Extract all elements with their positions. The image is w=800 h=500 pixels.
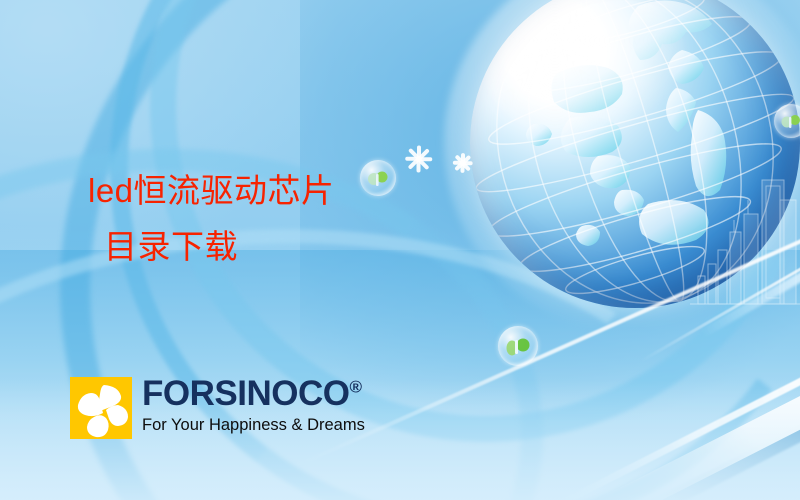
city-skyline-icon (690, 170, 800, 320)
registered-trademark-icon: ® (349, 377, 361, 396)
logo-tagline: For Your Happiness & Dreams (142, 415, 365, 435)
bubble-globe-icon (360, 160, 396, 196)
pinwheel-petals-icon (70, 377, 132, 439)
asterisk-flower-icon (452, 152, 474, 174)
page-title: led恒流驱动芯片 目录下载 (88, 163, 335, 275)
asterisk-flower-icon (404, 144, 434, 174)
page-title-line-2: 目录下载 (88, 219, 335, 275)
light-streak (560, 309, 800, 500)
company-logo: FORSINOCO® For Your Happiness & Dreams (70, 377, 365, 439)
logo-wordmark: FORSINOCO® (142, 377, 365, 411)
light-streak (596, 309, 800, 500)
promotional-banner: led恒流驱动芯片 目录下载 FORSINOCO® For Your Happi… (0, 0, 800, 500)
logo-wordmark-text: FORSINOCO (142, 374, 349, 413)
bubble-globe-small-icon (774, 104, 800, 138)
bubble-leaf-icon (498, 326, 538, 366)
logo-text-block: FORSINOCO® For Your Happiness & Dreams (142, 377, 365, 435)
light-streak (636, 317, 800, 500)
page-title-line-1: led恒流驱动芯片 (88, 172, 335, 209)
